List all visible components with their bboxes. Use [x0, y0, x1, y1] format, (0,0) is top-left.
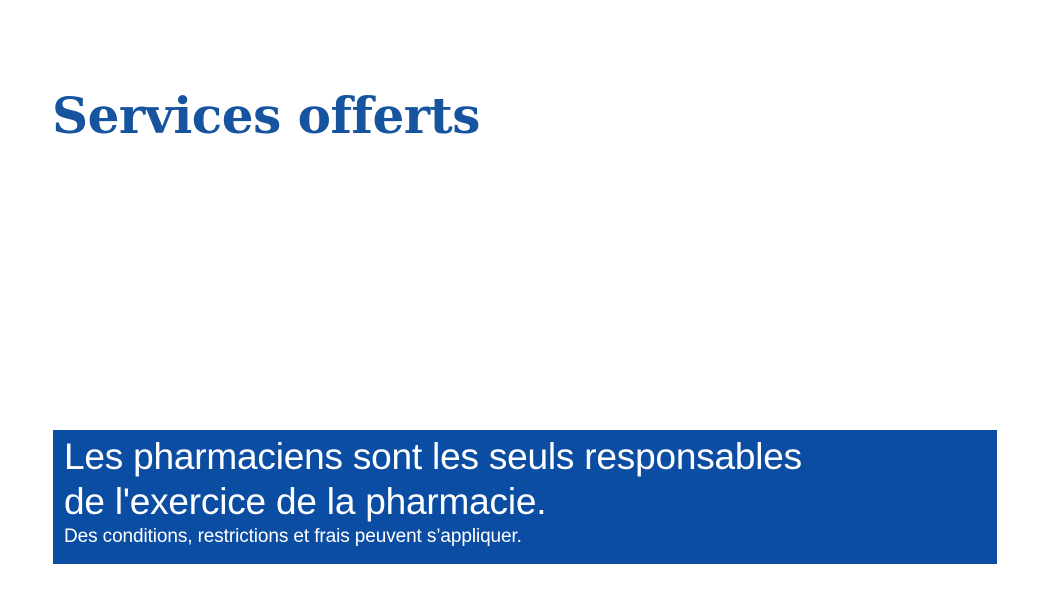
callout-banner: Les pharmaciens sont les seuls responsab… — [53, 430, 997, 564]
callout-heading-line-2: de l'exercice de la pharmacie. — [64, 479, 983, 524]
slide-canvas: Services offerts Les pharmaciens sont le… — [0, 0, 1050, 600]
callout-subtext: Des conditions, restrictions et frais pe… — [64, 524, 983, 550]
callout-heading: Les pharmaciens sont les seuls responsab… — [64, 434, 983, 524]
callout-heading-line-1: Les pharmaciens sont les seuls responsab… — [64, 434, 983, 479]
slide-content-area — [52, 130, 998, 426]
